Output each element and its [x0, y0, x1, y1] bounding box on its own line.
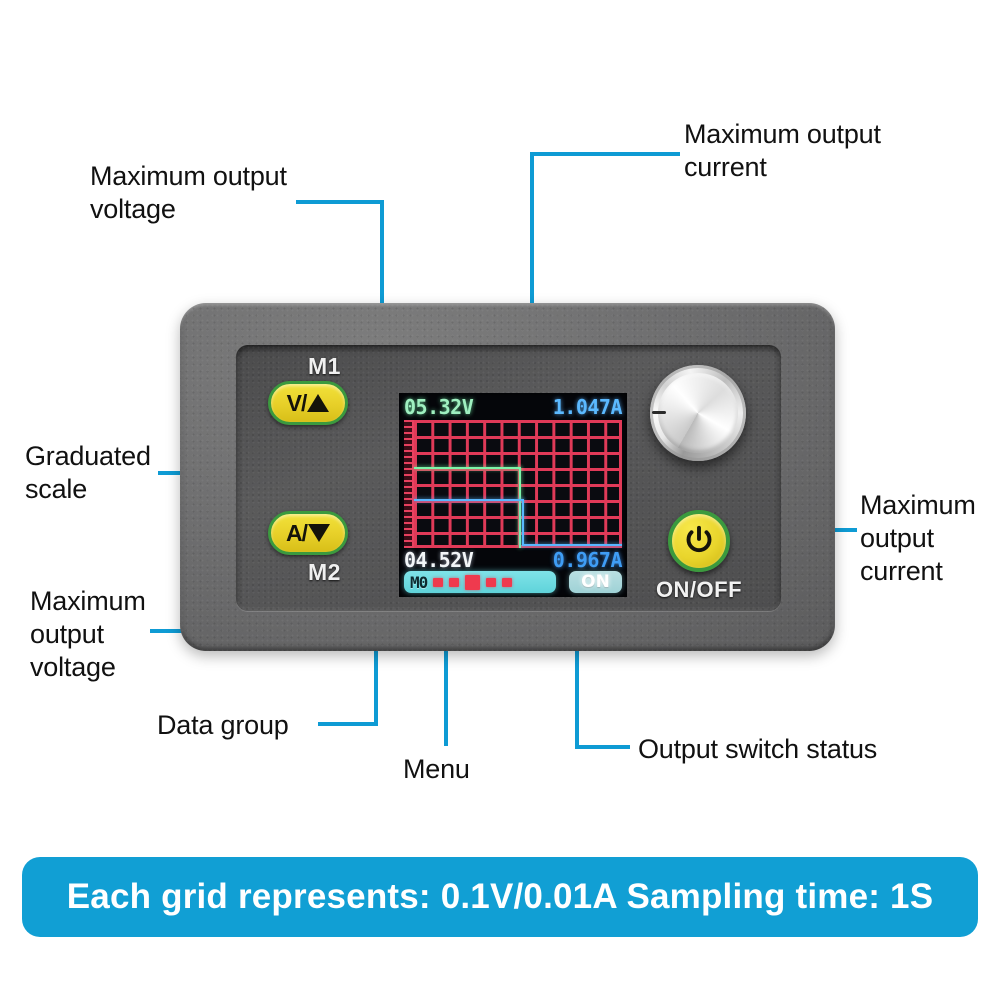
power-button-label: ON/OFF — [642, 577, 756, 603]
rotary-encoder-knob[interactable] — [650, 365, 746, 461]
menu-item-3-selected[interactable] — [465, 575, 480, 590]
lcd-top-readouts: 05.32V 1.047A — [399, 395, 627, 419]
annotation-data-group: Data group — [157, 709, 289, 742]
voltage-trace-segment-v — [519, 467, 521, 548]
menu-item-5[interactable] — [502, 578, 512, 587]
voltage-up-text: V/ — [287, 390, 307, 417]
leader-output-switch-h — [575, 745, 630, 749]
current-down-text: A/ — [286, 520, 307, 547]
max-output-current-top-value: 1.047A — [553, 395, 622, 419]
front-panel: M1 V/ A/ M2 05.32V 1.047A — [236, 345, 781, 611]
leader-data-group-h — [318, 722, 378, 726]
graduated-scale-axis — [404, 420, 413, 548]
annotation-max-output-current-top: Maximum output current — [684, 118, 881, 184]
lcd-bottom-readouts: 04.52V 0.967A — [399, 548, 627, 572]
lcd-screen[interactable]: 05.32V 1.047A 04.5 — [399, 393, 627, 597]
voltage-trace-segment-h — [414, 467, 521, 469]
voltage-up-button-label: V/ — [287, 390, 330, 417]
current-down-button-label: A/ — [286, 520, 330, 547]
current-trace-segment-v — [522, 499, 524, 546]
max-output-voltage-top-value: 05.32V — [404, 395, 473, 419]
annotation-max-output-current-right: Maximum output current — [860, 489, 976, 588]
annotation-graduated-scale: Graduated scale — [25, 440, 151, 506]
max-output-voltage-bottom-value: 04.52V — [404, 548, 473, 572]
menu-item-4[interactable] — [486, 578, 496, 587]
leader-max-voltage-top-h — [296, 200, 384, 204]
current-trace-segment-h — [414, 499, 523, 501]
annotation-max-output-voltage-top: Maximum output voltage — [90, 160, 287, 226]
power-on-off-button[interactable] — [668, 510, 730, 572]
current-down-button[interactable]: A/ — [268, 511, 348, 555]
max-output-current-bottom-value: 0.967A — [553, 548, 622, 572]
knob-indicator-tick — [652, 411, 666, 414]
triangle-up-icon — [307, 394, 329, 412]
data-group-label: M0 — [410, 573, 427, 592]
output-switch-status-text: ON — [581, 572, 610, 592]
voltage-up-button[interactable]: V/ — [268, 381, 348, 425]
power-supply-device: M1 V/ A/ M2 05.32V 1.047A — [180, 303, 835, 651]
annotation-menu: Menu — [403, 753, 470, 786]
screenshot-root: Maximum output voltage Maximum output cu… — [0, 0, 1000, 1000]
waveform-graph — [404, 420, 622, 548]
menu-bar[interactable]: M0 — [404, 571, 556, 593]
annotation-max-output-voltage-left: Maximum output voltage — [30, 585, 146, 684]
annotation-output-switch-status: Output switch status — [638, 733, 877, 766]
menu-item-1[interactable] — [433, 578, 443, 587]
leader-max-current-top-h — [530, 152, 680, 156]
current-trace-segment-h2 — [522, 544, 622, 546]
graph-grid — [414, 420, 622, 548]
info-banner-text: Each grid represents: 0.1V/0.01A Samplin… — [67, 877, 934, 917]
output-switch-status-badge: ON — [569, 571, 622, 593]
power-icon — [681, 523, 717, 559]
triangle-down-icon — [308, 524, 330, 542]
info-banner: Each grid represents: 0.1V/0.01A Samplin… — [22, 857, 978, 937]
memory-label-m1: M1 — [308, 353, 341, 380]
menu-item-2[interactable] — [449, 578, 459, 587]
memory-label-m2: M2 — [308, 559, 341, 586]
